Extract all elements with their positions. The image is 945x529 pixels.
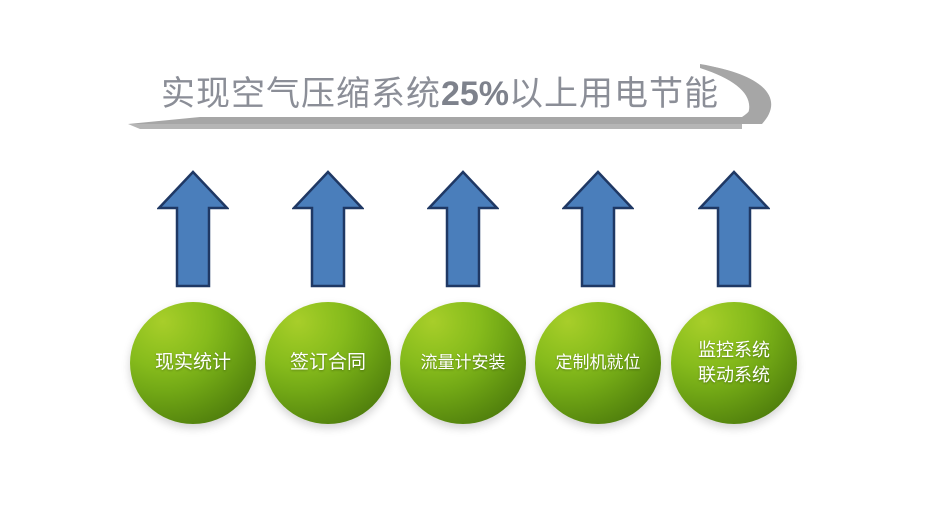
up-arrow-icon-1 [157,168,229,290]
process-bubble-1[interactable]: 现实统计 [130,302,256,424]
process-flow: 现实统计 签订合同 流量计安装 [129,168,819,428]
process-bubble-label-4: 定制机就位 [556,351,641,375]
process-bubble-label-3: 流量计安装 [421,351,506,375]
process-step-3[interactable]: 流量计安装 [399,168,527,428]
up-arrow-icon-2 [292,168,364,290]
title-banner: 实现空气压缩系统25%以上用电节能 [0,28,945,138]
process-bubble-label-5-line-1: 监控系统 [698,338,770,363]
process-bubble-3[interactable]: 流量计安装 [400,302,526,424]
process-bubble-2[interactable]: 签订合同 [265,302,391,424]
up-arrow-icon [157,168,229,290]
up-arrow-icon-3 [427,168,499,290]
process-bubble-4[interactable]: 定制机就位 [535,302,661,424]
up-arrow-icon [292,168,364,290]
up-arrow-icon [562,168,634,290]
title-part-before: 实现空气压缩系统 [161,76,441,113]
process-step-2[interactable]: 签订合同 [264,168,392,428]
up-arrow-icon-5 [698,168,770,290]
process-bubble-label-5: 监控系统 联动系统 [698,338,770,388]
process-step-4[interactable]: 定制机就位 [534,168,662,428]
process-bubble-label-1: 现实统计 [155,351,231,375]
up-arrow-icon [427,168,499,290]
title-percentage: 25% [441,75,509,113]
up-arrow-icon-4 [562,168,634,290]
slide-canvas: 实现空气压缩系统25%以上用电节能 现实统计 签订合同 [0,0,945,529]
title-part-after: 以上用电节能 [509,76,719,113]
process-bubble-label-2: 签订合同 [290,351,366,375]
up-arrow-icon [698,168,770,290]
process-bubble-5[interactable]: 监控系统 联动系统 [671,302,797,424]
process-step-1[interactable]: 现实统计 [129,168,257,428]
page-title: 实现空气压缩系统25%以上用电节能 [150,72,730,117]
process-bubble-label-5-line-2: 联动系统 [698,363,770,388]
process-step-5[interactable]: 监控系统 联动系统 [670,168,798,428]
